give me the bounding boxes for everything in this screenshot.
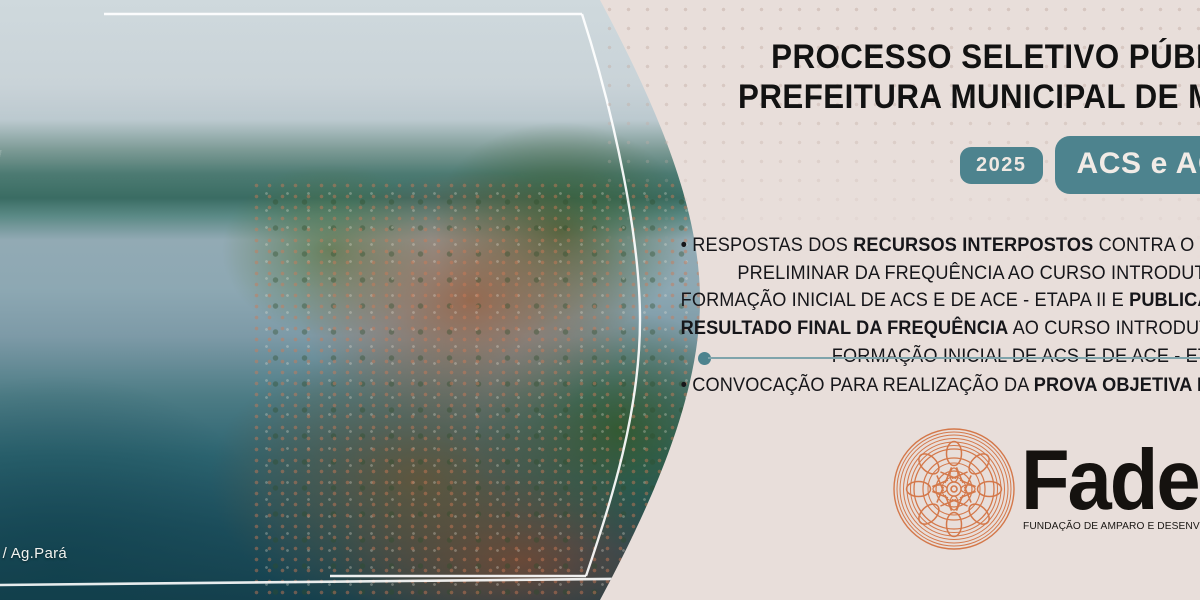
- divider-line: [708, 357, 1200, 359]
- badge-group: 2025 ACS e ACE: [960, 136, 1200, 194]
- fadesp-logo: CONCUR Fades FUNDAÇÃO DE AMPARO E DESENV…: [893, 428, 1200, 550]
- photo-credit: oreira / Ag.Pará: [0, 545, 67, 562]
- plain-text: • CONVOCAÇÃO PARA REALIZAÇÃO DA: [681, 374, 1034, 396]
- bullet-1-text: • RESPOSTAS DOS RECURSOS INTERPOSTOS CON…: [681, 232, 1200, 370]
- plain-text: FORMAÇÃO INICIAL DE ACS E DE ACE - ETAPA…: [681, 289, 1129, 311]
- plain-text: CONTRA O RESU: [1093, 234, 1200, 256]
- emphasis-text: RESULTADO FINAL DA FREQUÊNCIA: [681, 317, 1009, 339]
- bullet-1-block: • RESPOSTAS DOS RECURSOS INTERPOSTOS CON…: [640, 232, 1200, 370]
- section-divider: [698, 352, 1200, 364]
- plain-text: • RESPOSTAS DOS: [681, 234, 854, 256]
- bullet-2-text: • CONVOCAÇÃO PARA REALIZAÇÃO DA PROVA OB…: [681, 372, 1200, 400]
- text-line: RESULTADO FINAL DA FREQUÊNCIA AO CURSO I…: [681, 315, 1200, 343]
- text-line: • RESPOSTAS DOS RECURSOS INTERPOSTOS CON…: [681, 232, 1200, 260]
- year-badge: 2025: [960, 147, 1043, 184]
- banner-root: oreira / Ag.Pará PROCESSO SELETIVO PÚBLI…: [0, 0, 1200, 600]
- role-badge: ACS e ACE: [1055, 136, 1200, 194]
- emphasis-text: RECURSOS INTERPOSTOS: [853, 234, 1093, 256]
- plain-text: PRELIMINAR DA FREQUÊNCIA AO CURSO INTROD…: [737, 262, 1200, 284]
- logo-wordmark: CONCUR Fades FUNDAÇÃO DE AMPARO E DESENV…: [1021, 428, 1200, 510]
- text-line: PRELIMINAR DA FREQUÊNCIA AO CURSO INTROD…: [681, 260, 1200, 288]
- mandala-icon: [893, 428, 1015, 550]
- aerial-photo: oreira / Ag.Pará: [0, 0, 700, 600]
- title-line-1: PROCESSO SELETIVO PÚBLICO: [600, 38, 1170, 78]
- logo-name-text: Fades: [1021, 444, 1200, 516]
- emphasis-text: PROVA OBJETIVA DA ETA: [1034, 374, 1200, 396]
- text-line: • CONVOCAÇÃO PARA REALIZAÇÃO DA PROVA OB…: [681, 374, 1200, 396]
- page-title: PROCESSO SELETIVO PÚBLICO PREFEITURA MUN…: [600, 38, 1200, 118]
- photo-image: [0, 0, 700, 600]
- plain-text: AO CURSO INTRODUTÓ: [1008, 317, 1200, 339]
- title-line-2: PREFEITURA MUNICIPAL DE MOCAJU: [600, 78, 1170, 118]
- emphasis-text: PUBLICAÇ: [1129, 289, 1200, 311]
- logo-tagline: FUNDAÇÃO DE AMPARO E DESENVOLVIMENTO DA …: [1023, 520, 1200, 532]
- text-line: FORMAÇÃO INICIAL DE ACS E DE ACE - ETAPA…: [681, 287, 1200, 315]
